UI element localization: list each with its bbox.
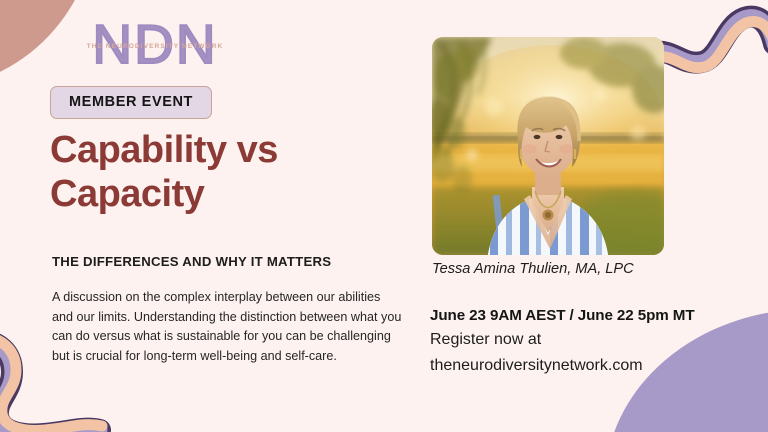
speaker-photo — [432, 37, 664, 255]
rose-corner-blob-top-left — [0, 0, 98, 88]
member-event-badge: MEMBER EVENT — [50, 86, 212, 119]
promo-slide: NDN THE NEURODIVERSITY NETWORK MEMBER EV… — [0, 0, 768, 432]
subtitle: THE DIFFERENCES AND WHY IT MATTERS — [52, 254, 412, 269]
ndn-logo: NDN THE NEURODIVERSITY NETWORK — [85, 16, 225, 72]
register-website-url[interactable]: theneurodiversitynetwork.com — [430, 357, 643, 375]
event-datetime: June 23 9AM AEST / June 22 5pm MT — [430, 307, 695, 324]
speaker-name: Tessa Amina Thulien, MA, LPC — [432, 261, 634, 277]
speaker-photo-image — [432, 37, 664, 255]
description-text: A discussion on the complex interplay be… — [52, 288, 404, 366]
page-title: Capability vs Capacity — [50, 128, 380, 216]
logo-tagline: THE NEURODIVERSITY NETWORK — [85, 43, 225, 50]
register-call-to-action: Register now at — [430, 331, 541, 349]
